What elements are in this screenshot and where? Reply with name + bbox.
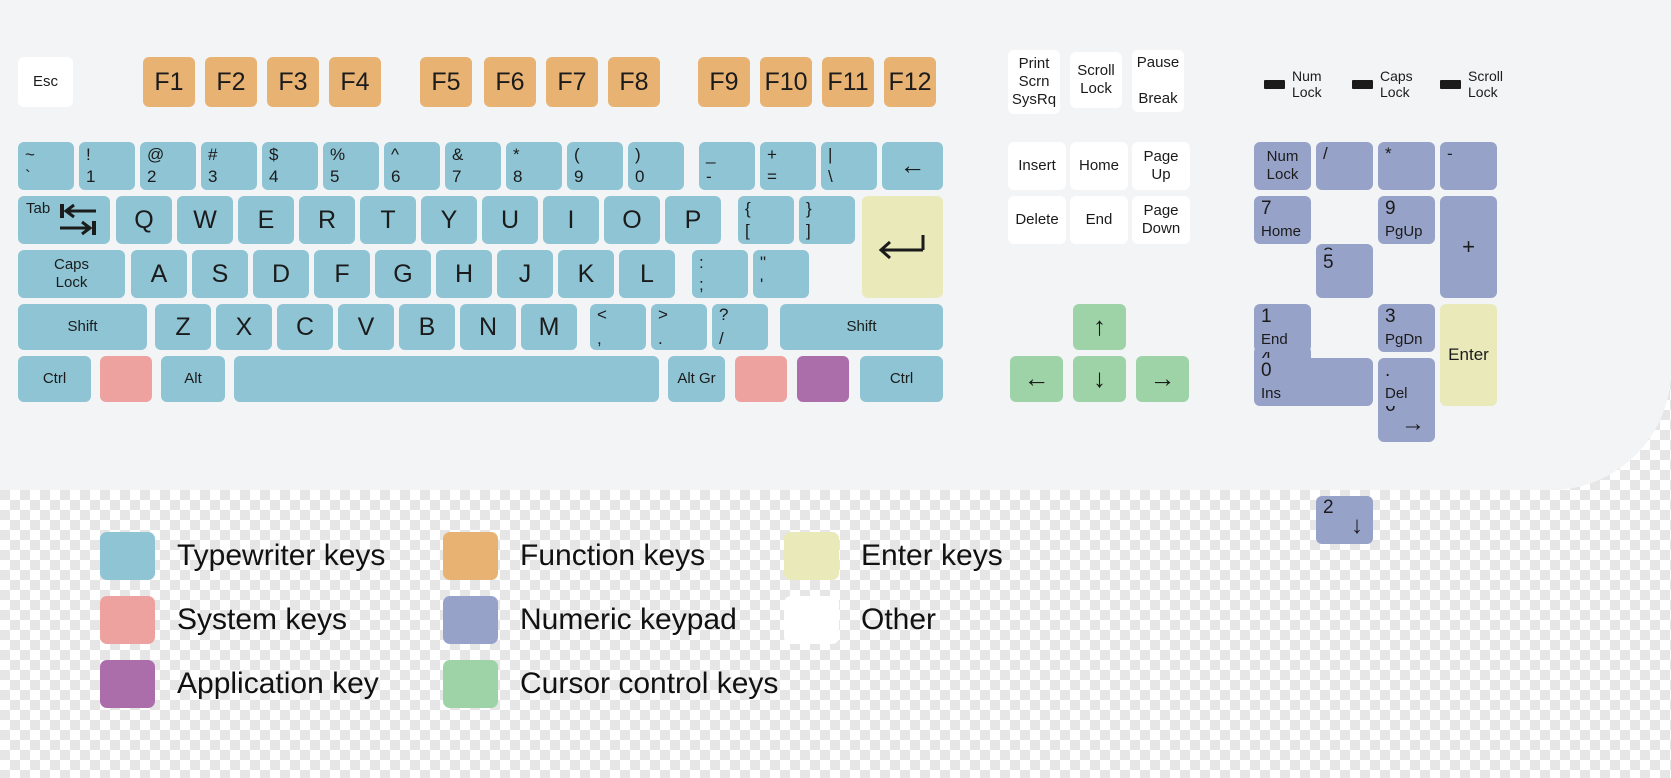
scroll-lock-led-icon	[1440, 80, 1461, 89]
key-2[interactable]: @2	[140, 142, 196, 190]
key-numpad-minus[interactable]: -	[1440, 142, 1497, 190]
legend-item-typewriter: Typewriter keys	[100, 532, 385, 580]
key-numpad-7[interactable]: 7 Home	[1254, 196, 1311, 244]
legend-swatch-numeric	[443, 596, 498, 644]
page-down-line2: Down	[1142, 221, 1180, 237]
key-numpad-multiply[interactable]: *	[1378, 142, 1435, 190]
key-home[interactable]: Home	[1070, 142, 1128, 190]
key-h[interactable]: H	[436, 250, 492, 298]
scroll-lock-line1: Scroll	[1077, 63, 1115, 79]
key-l[interactable]: L	[619, 250, 675, 298]
key-page-up[interactable]: Page Up	[1132, 142, 1190, 190]
key-caps-lock[interactable]: Caps Lock	[18, 250, 125, 298]
key-f2[interactable]: F2	[205, 57, 257, 107]
key-quote[interactable]: "'	[753, 250, 809, 298]
key-page-down[interactable]: Page Down	[1132, 196, 1190, 244]
page-up-line2: Up	[1151, 167, 1170, 183]
key-ctrl-left[interactable]: Ctrl	[18, 356, 91, 402]
key-v[interactable]: V	[338, 304, 394, 350]
key-numpad-plus[interactable]: +	[1440, 196, 1497, 298]
key-menu[interactable]	[797, 356, 849, 402]
key-tab[interactable]: Tab	[18, 196, 110, 244]
key-equals[interactable]: +=	[760, 142, 816, 190]
key-pause-break[interactable]: Pause Break	[1132, 50, 1184, 112]
key-g[interactable]: G	[375, 250, 431, 298]
key-windows-left[interactable]	[100, 356, 152, 402]
key-comma[interactable]: <,	[590, 304, 646, 350]
legend-item-cursor: Cursor control keys	[443, 660, 778, 708]
key-f11[interactable]: F11	[822, 57, 874, 107]
num-lock-led-icon	[1264, 80, 1285, 89]
legend-item-enter: Enter keys	[784, 532, 1003, 580]
legend-label-enter: Enter keys	[861, 539, 1003, 573]
legend-label-other: Other	[861, 603, 936, 637]
key-scroll-lock[interactable]: Scroll Lock	[1070, 52, 1122, 108]
key-semicolon[interactable]: :;	[692, 250, 748, 298]
key-x[interactable]: X	[216, 304, 272, 350]
pause-line1: Pause	[1137, 55, 1180, 71]
key-f4[interactable]: F4	[329, 57, 381, 107]
key-e[interactable]: E	[238, 196, 294, 244]
key-f8[interactable]: F8	[608, 57, 660, 107]
indicator-scroll-lock: Scroll Lock	[1440, 68, 1503, 100]
key-period[interactable]: >.	[651, 304, 707, 350]
num-lock-label-line1: Num	[1292, 68, 1322, 84]
page-down-line1: Page	[1143, 203, 1178, 219]
key-arrow-right[interactable]: →	[1136, 356, 1189, 402]
key-space[interactable]	[234, 356, 659, 402]
legend-label-numeric: Numeric keypad	[520, 603, 737, 637]
key-i[interactable]: I	[543, 196, 599, 244]
key-5[interactable]: %5	[323, 142, 379, 190]
caps-lock-label-line2: Lock	[1380, 84, 1410, 100]
key-bracket-left[interactable]: {[	[738, 196, 794, 244]
scroll-lock-label-line2: Lock	[1468, 84, 1498, 100]
key-w[interactable]: W	[177, 196, 233, 244]
legend-item-function: Function keys	[443, 532, 705, 580]
numlock-line2: Lock	[1267, 167, 1299, 183]
key-t[interactable]: T	[360, 196, 416, 244]
scroll-lock-line2: Lock	[1080, 81, 1112, 97]
legend-swatch-cursor	[443, 660, 498, 708]
indicator-caps-lock: Caps Lock	[1352, 68, 1413, 100]
caps-lock-line2: Lock	[56, 275, 88, 291]
key-ctrl-right[interactable]: Ctrl	[860, 356, 943, 402]
legend-swatch-typewriter	[100, 532, 155, 580]
key-u[interactable]: U	[482, 196, 538, 244]
key-j[interactable]: J	[497, 250, 553, 298]
key-6[interactable]: ^6	[384, 142, 440, 190]
key-1[interactable]: !1	[79, 142, 135, 190]
legend-label-system: System keys	[177, 603, 347, 637]
key-9[interactable]: (9	[567, 142, 623, 190]
legend-swatch-system	[100, 596, 155, 644]
legend-swatch-enter	[784, 532, 839, 580]
legend-swatch-other	[784, 596, 839, 644]
caps-lock-label-line1: Caps	[1380, 68, 1413, 84]
key-num-lock[interactable]: Num Lock	[1254, 142, 1311, 190]
key-f5[interactable]: F5	[420, 57, 472, 107]
key-backspace[interactable]: ←	[882, 142, 943, 190]
key-a[interactable]: A	[131, 250, 187, 298]
key-f7[interactable]: F7	[546, 57, 598, 107]
key-p[interactable]: P	[665, 196, 721, 244]
pause-line2: Break	[1138, 91, 1177, 107]
legend-label-function: Function keys	[520, 539, 705, 573]
print-screen-line1: Print	[1019, 56, 1050, 72]
legend-swatch-function	[443, 532, 498, 580]
key-backtick[interactable]: ~ `	[18, 142, 74, 190]
enter-arrow-icon	[875, 230, 931, 264]
key-m[interactable]: M	[521, 304, 577, 350]
indicator-num-lock: Num Lock	[1264, 68, 1322, 100]
key-enter[interactable]	[862, 196, 943, 298]
keyboard-panel: Esc F1 F2 F3 F4 F5 F6 F7 F8 F9 F10 F11 F…	[0, 0, 1671, 490]
key-escape[interactable]: Esc	[18, 57, 73, 107]
key-z[interactable]: Z	[155, 304, 211, 350]
key-n[interactable]: N	[460, 304, 516, 350]
key-b[interactable]: B	[399, 304, 455, 350]
key-7[interactable]: &7	[445, 142, 501, 190]
legend-item-application: Application key	[100, 660, 379, 708]
key-k[interactable]: K	[558, 250, 614, 298]
key-f12[interactable]: F12	[884, 57, 936, 107]
legend-item-system: System keys	[100, 596, 347, 644]
key-numpad-divide[interactable]: /	[1316, 142, 1373, 190]
key-c[interactable]: C	[277, 304, 333, 350]
key-windows-right[interactable]	[735, 356, 787, 402]
key-tab-label: Tab	[26, 201, 50, 217]
key-4[interactable]: $4	[262, 142, 318, 190]
key-d[interactable]: D	[253, 250, 309, 298]
key-o[interactable]: O	[604, 196, 660, 244]
key-delete[interactable]: Delete	[1008, 196, 1066, 244]
key-alt-left[interactable]: Alt	[161, 356, 225, 402]
key-backtick-shifted: ~	[25, 146, 35, 164]
legend-label-typewriter: Typewriter keys	[177, 539, 385, 573]
numlock-line1: Num	[1267, 149, 1299, 165]
tab-arrows-icon	[54, 202, 102, 238]
key-numpad-9[interactable]: 9 PgUp	[1378, 196, 1435, 244]
key-f6[interactable]: F6	[484, 57, 536, 107]
key-arrow-up[interactable]: ↑	[1073, 304, 1126, 350]
key-backtick-base: `	[25, 168, 31, 186]
key-numpad-1[interactable]: 1 End	[1254, 304, 1311, 352]
key-numpad-enter[interactable]: Enter	[1440, 304, 1497, 406]
key-s[interactable]: S	[192, 250, 248, 298]
key-numpad-5[interactable]: 5	[1316, 250, 1373, 298]
legend-label-cursor: Cursor control keys	[520, 667, 778, 701]
key-3[interactable]: #3	[201, 142, 257, 190]
key-minus[interactable]: _-	[699, 142, 755, 190]
key-backslash[interactable]: |\	[821, 142, 877, 190]
key-f10[interactable]: F10	[760, 57, 812, 107]
legend: Typewriter keys Function keys Enter keys…	[0, 500, 1671, 778]
key-f3[interactable]: F3	[267, 57, 319, 107]
key-insert[interactable]: Insert	[1008, 142, 1066, 190]
caps-lock-line1: Caps	[54, 257, 89, 273]
print-screen-line3: SysRq	[1012, 92, 1056, 108]
legend-item-numeric: Numeric keypad	[443, 596, 737, 644]
key-f1[interactable]: F1	[143, 57, 195, 107]
key-slash[interactable]: ?/	[712, 304, 768, 350]
key-bracket-right[interactable]: }]	[799, 196, 855, 244]
page-up-line1: Page	[1143, 149, 1178, 165]
scroll-lock-label-line1: Scroll	[1468, 68, 1503, 84]
key-alt-gr[interactable]: Alt Gr	[668, 356, 725, 402]
key-numpad-0[interactable]: 0 Ins	[1254, 358, 1373, 406]
key-end[interactable]: End	[1070, 196, 1128, 244]
key-y[interactable]: Y	[421, 196, 477, 244]
key-arrow-down[interactable]: ↓	[1073, 356, 1126, 402]
key-8[interactable]: *8	[506, 142, 562, 190]
print-screen-line2: Scrn	[1019, 74, 1050, 90]
key-f9[interactable]: F9	[698, 57, 750, 107]
key-numpad-decimal[interactable]: . Del	[1378, 358, 1435, 406]
num-lock-label-line2: Lock	[1292, 84, 1322, 100]
key-r[interactable]: R	[299, 196, 355, 244]
key-0[interactable]: )0	[628, 142, 684, 190]
key-print-screen[interactable]: Print Scrn SysRq	[1008, 50, 1060, 114]
legend-item-other: Other	[784, 596, 936, 644]
numpad-6-arrow-icon: →	[1401, 411, 1425, 436]
key-q[interactable]: Q	[116, 196, 172, 244]
key-numpad-3[interactable]: 3 PgDn	[1378, 304, 1435, 352]
caps-lock-led-icon	[1352, 80, 1373, 89]
legend-label-application: Application key	[177, 667, 379, 701]
key-shift-right[interactable]: Shift	[780, 304, 943, 350]
key-shift-left[interactable]: Shift	[18, 304, 147, 350]
key-arrow-left[interactable]: ←	[1010, 356, 1063, 402]
legend-swatch-application	[100, 660, 155, 708]
key-f[interactable]: F	[314, 250, 370, 298]
